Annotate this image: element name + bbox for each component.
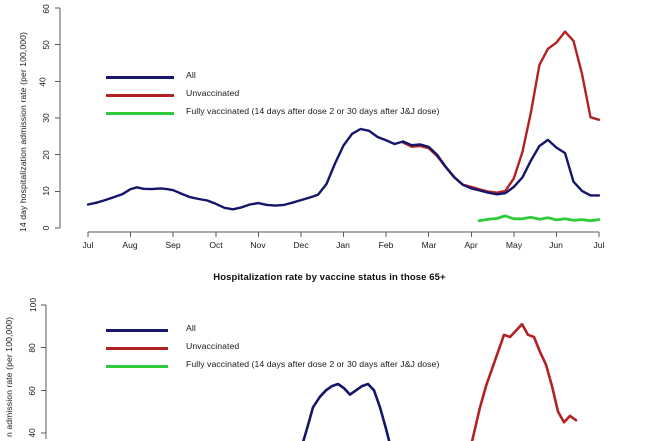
legend-swatch-all-panel1	[106, 76, 174, 79]
chart-panel-all-ages: 14 day hospitalization admission rate (p…	[0, 0, 659, 262]
x-tick-label-nov: Nov	[246, 240, 270, 250]
series-line-fully-vaccinated-panel1	[479, 216, 599, 221]
legend-swatch-all-panel2	[106, 329, 168, 332]
legend-swatch-fully-vaccinated-panel1	[106, 112, 174, 115]
legend-swatch-fully-vaccinated-panel2	[106, 365, 168, 368]
series-line-unvaccinated-panel2	[468, 324, 576, 441]
plot-area-panel2	[0, 262, 659, 439]
series-line-all-panel1	[88, 129, 599, 209]
legend-swatch-unvaccinated-panel1	[106, 94, 174, 97]
x-tick-label-jul-2: Jul	[587, 240, 611, 250]
legend-label-all-panel1: All	[186, 70, 196, 80]
x-tick-label-feb: Feb	[374, 240, 398, 250]
legend-label-fully-vaccinated-panel1: Fully vaccinated (14 days after dose 2 o…	[186, 106, 439, 116]
series-line-all-panel2	[293, 384, 398, 441]
plot-area-panel1	[0, 0, 659, 262]
x-tick-label-apr: Apr	[459, 240, 483, 250]
x-tick-label-jan: Jan	[331, 240, 355, 250]
legend-label-fully-vaccinated-panel2: Fully vaccinated (14 days after dose 2 o…	[186, 359, 439, 369]
y-axis-panel2	[41, 305, 46, 439]
legend-label-unvaccinated-panel1: Unvaccinated	[186, 88, 239, 98]
x-tick-label-jul-1: Jul	[76, 240, 100, 250]
x-axis-panel1	[88, 232, 599, 237]
figure-hospitalization-rates: 14 day hospitalization admission rate (p…	[0, 0, 659, 439]
y-axis-panel1	[55, 8, 60, 228]
legend-label-unvaccinated-panel2: Unvaccinated	[186, 341, 239, 351]
x-tick-label-dec: Dec	[289, 240, 313, 250]
chart-panel-65-plus: Hospitalization rate by vaccine status i…	[0, 262, 659, 439]
x-tick-label-may: May	[502, 240, 526, 250]
x-tick-label-sep: Sep	[161, 240, 185, 250]
x-tick-label-oct: Oct	[204, 240, 228, 250]
legend-swatch-unvaccinated-panel2	[106, 347, 168, 350]
legend-label-all-panel2: All	[186, 323, 196, 333]
x-tick-label-mar: Mar	[417, 240, 441, 250]
x-tick-label-aug: Aug	[118, 240, 142, 250]
x-tick-label-jun: Jun	[544, 240, 568, 250]
